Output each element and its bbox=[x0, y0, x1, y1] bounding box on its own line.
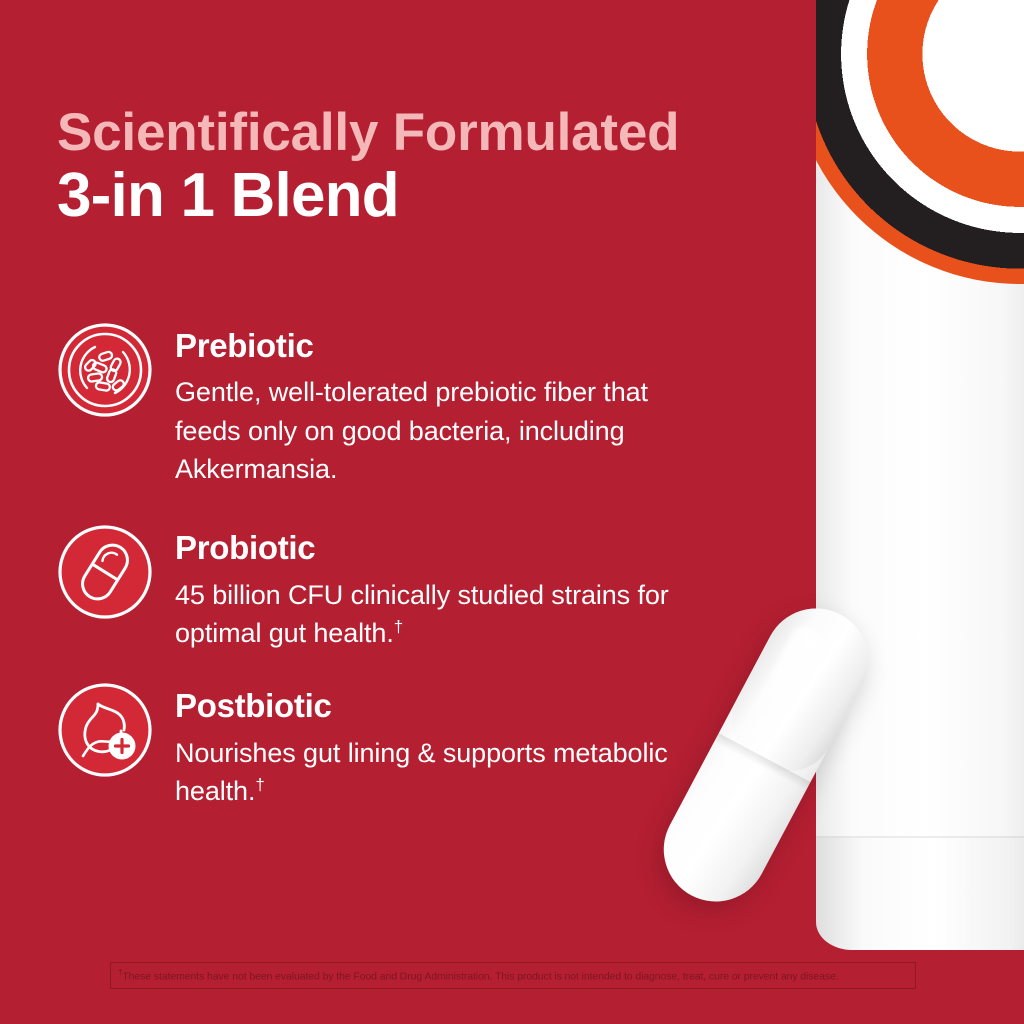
benefit-description-probiotic: 45 billion CFU clinically studied strain… bbox=[175, 576, 715, 653]
bottle-base bbox=[816, 838, 1024, 950]
benefit-title-probiotic: Probiotic bbox=[175, 530, 715, 566]
capsule-pill-icon bbox=[57, 524, 153, 620]
benefit-item-probiotic: Probiotic 45 billion CFU clinically stud… bbox=[57, 524, 817, 652]
benefit-description-probiotic-text: 45 billion CFU clinically studied strain… bbox=[175, 580, 669, 648]
stomach-plus-icon bbox=[57, 682, 153, 778]
benefit-title-postbiotic: Postbiotic bbox=[175, 688, 715, 724]
benefit-text-postbiotic: Postbiotic Nourishes gut lining & suppor… bbox=[175, 682, 715, 810]
product-image bbox=[784, 0, 1024, 1024]
benefit-description-prebiotic: Gentle, well-tolerated prebiotic fiber t… bbox=[175, 373, 715, 488]
disclaimer-text: †These statements have not been evaluate… bbox=[118, 968, 839, 983]
benefit-title-prebiotic: Prebiotic bbox=[175, 328, 715, 364]
headline-block: Scientifically Formulated 3-in 1 Blend bbox=[57, 104, 817, 230]
benefit-description-postbiotic-text: Nourishes gut lining & supports metaboli… bbox=[175, 738, 668, 806]
footnote-dagger-probiotic: † bbox=[394, 617, 403, 636]
petri-dish-bacteria-icon bbox=[57, 322, 153, 418]
benefit-item-postbiotic: Postbiotic Nourishes gut lining & suppor… bbox=[57, 682, 817, 810]
benefit-item-prebiotic: Prebiotic Gentle, well-tolerated prebiot… bbox=[57, 322, 817, 488]
headline-line-1: Scientifically Formulated bbox=[57, 104, 817, 161]
disclaimer-body: These statements have not been evaluated… bbox=[122, 971, 838, 983]
benefit-text-prebiotic: Prebiotic Gentle, well-tolerated prebiot… bbox=[175, 322, 715, 488]
benefit-text-probiotic: Probiotic 45 billion CFU clinically stud… bbox=[175, 524, 715, 652]
benefit-description-postbiotic: Nourishes gut lining & supports metaboli… bbox=[175, 734, 715, 811]
benefits-list: Prebiotic Gentle, well-tolerated prebiot… bbox=[57, 322, 817, 810]
disclaimer-box: †These statements have not been evaluate… bbox=[110, 962, 916, 989]
headline-line-2: 3-in 1 Blend bbox=[57, 163, 817, 230]
footnote-dagger-postbiotic: † bbox=[255, 775, 264, 794]
